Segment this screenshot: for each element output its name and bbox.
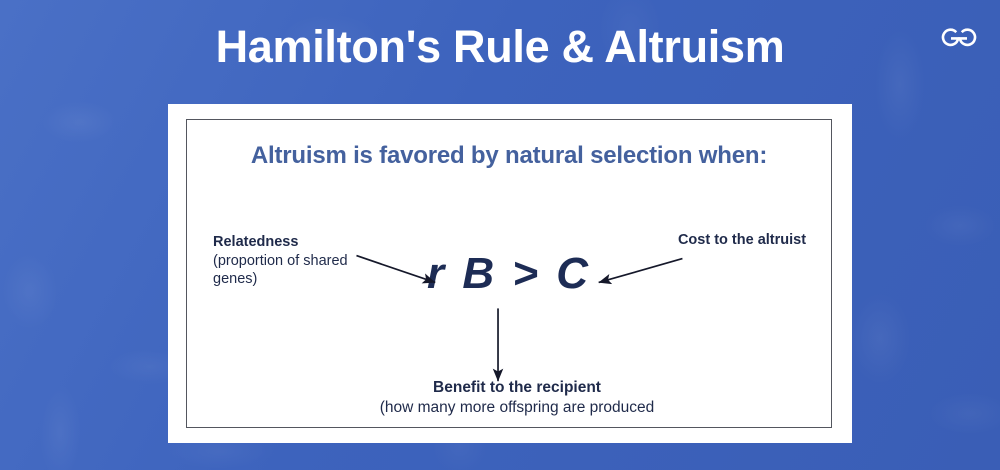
annotation-benefit: Benefit to the recipient (how many more … bbox=[317, 378, 717, 418]
annotation-benefit-title: Benefit to the recipient bbox=[317, 378, 717, 398]
annotation-cost-title: Cost to the altruist bbox=[667, 231, 817, 250]
card-heading: Altruism is favored by natural selection… bbox=[187, 140, 831, 172]
annotation-relatedness: Relatedness (proportion of shared genes) bbox=[213, 233, 393, 289]
annotation-relatedness-title: Relatedness bbox=[213, 233, 393, 252]
annotation-cost: Cost to the altruist bbox=[667, 231, 817, 250]
annotation-benefit-subtitle: (how many more offspring are produced bbox=[317, 398, 717, 418]
card-inner-frame: Altruism is favored by natural selection… bbox=[186, 119, 832, 428]
annotation-relatedness-subtitle: (proportion of shared genes) bbox=[213, 252, 393, 289]
geeksforgeeks-logo-icon[interactable] bbox=[937, 19, 981, 53]
page-title: Hamilton's Rule & Altruism bbox=[0, 22, 1000, 72]
content-card: Altruism is favored by natural selection… bbox=[168, 104, 852, 443]
